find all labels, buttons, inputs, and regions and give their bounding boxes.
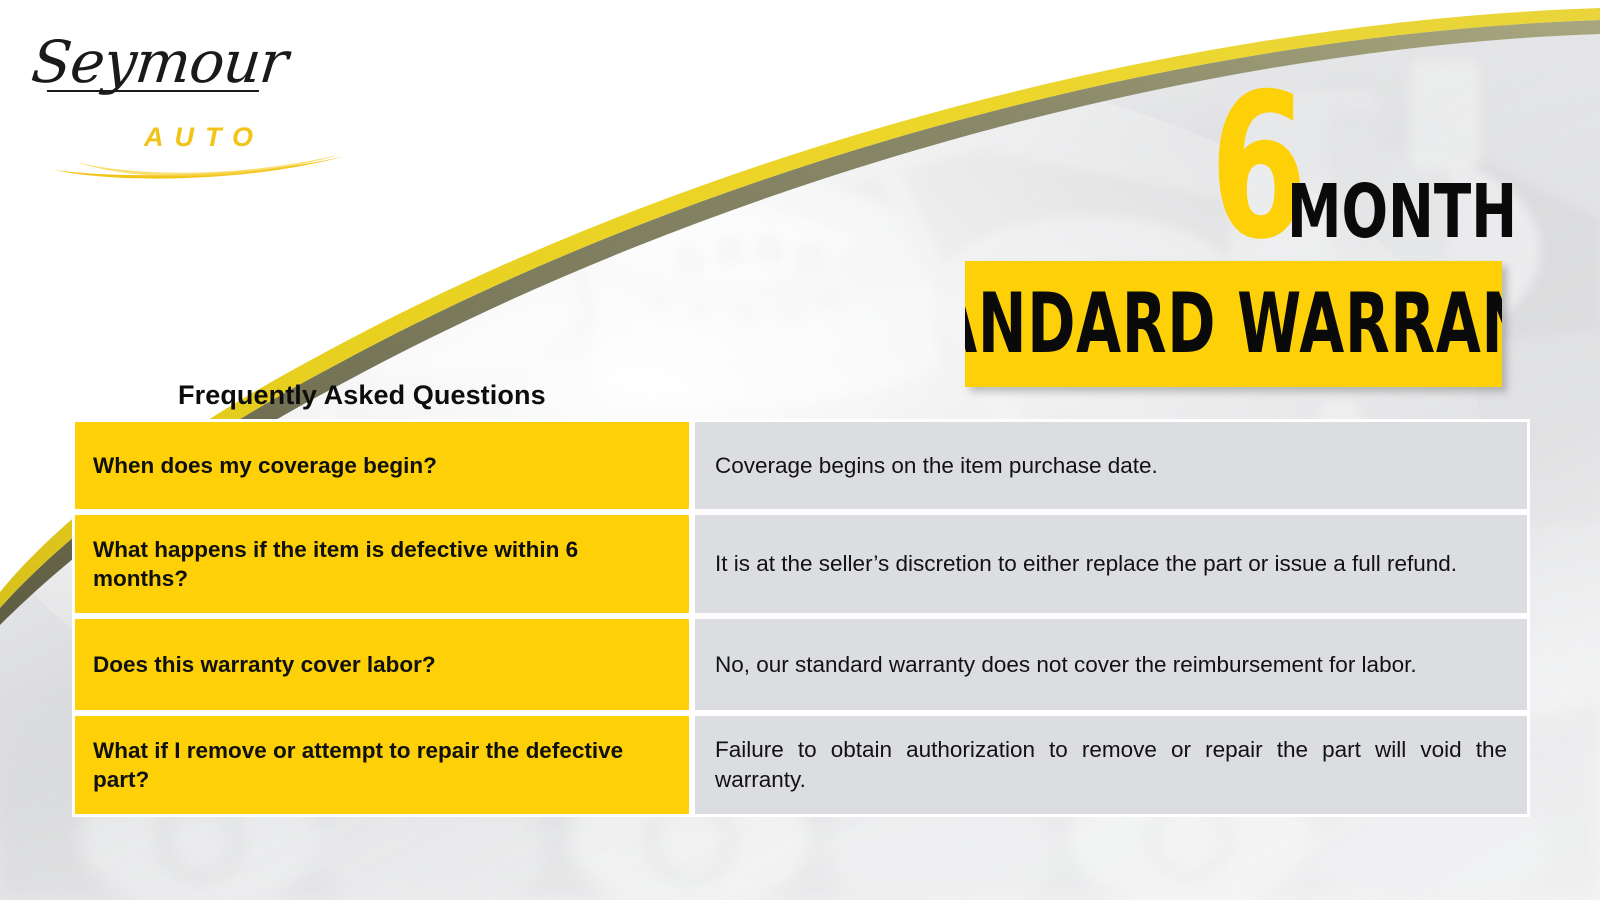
duration-unit: MONTH bbox=[1287, 183, 1517, 242]
faq-question-text: What if I remove or attempt to repair th… bbox=[93, 736, 671, 795]
faq-table: When does my coverage begin? Coverage be… bbox=[72, 419, 1530, 817]
table-row: What if I remove or attempt to repair th… bbox=[72, 713, 1530, 817]
faq-heading: Frequently Asked Questions bbox=[178, 380, 546, 411]
standard-warranty-title: STANDARD WARRANTY bbox=[965, 287, 1502, 362]
faq-answer-text: It is at the seller’s discretion to eith… bbox=[715, 549, 1507, 579]
faq-question-cell: What happens if the item is defective wi… bbox=[72, 512, 692, 616]
standard-warranty-banner: STANDARD WARRANTY bbox=[965, 261, 1502, 387]
table-row: What happens if the item is defective wi… bbox=[72, 512, 1530, 616]
table-row: When does my coverage begin? Coverage be… bbox=[72, 419, 1530, 512]
faq-question-cell: Does this warranty cover labor? bbox=[72, 616, 692, 713]
faq-answer-cell: Failure to obtain authorization to remov… bbox=[692, 713, 1530, 817]
faq-answer-cell: It is at the seller’s discretion to eith… bbox=[692, 512, 1530, 616]
faq-question-text: When does my coverage begin? bbox=[93, 451, 437, 480]
table-row: Does this warranty cover labor? No, our … bbox=[72, 616, 1530, 713]
faq-answer-text: Coverage begins on the item purchase dat… bbox=[715, 451, 1507, 481]
warranty-slide: Seymour AUTO 6 MONTH STANDARD WARRANTY F… bbox=[0, 0, 1600, 900]
faq-answer-cell: No, our standard warranty does not cover… bbox=[692, 616, 1530, 713]
faq-question-cell: What if I remove or attempt to repair th… bbox=[72, 713, 692, 817]
faq-answer-text: No, our standard warranty does not cover… bbox=[715, 650, 1507, 680]
brand-logo: Seymour AUTO bbox=[28, 22, 328, 172]
faq-question-text: What happens if the item is defective wi… bbox=[93, 535, 671, 594]
faq-question-text: Does this warranty cover labor? bbox=[93, 650, 436, 679]
duration-headline: 6 MONTH bbox=[1210, 78, 1598, 248]
faq-answer-text: Failure to obtain authorization to remov… bbox=[715, 735, 1507, 794]
faq-question-cell: When does my coverage begin? bbox=[72, 419, 692, 512]
faq-answer-cell: Coverage begins on the item purchase dat… bbox=[692, 419, 1530, 512]
logo-swoosh-icon bbox=[50, 140, 350, 182]
logo-wordmark: Seymour bbox=[28, 28, 290, 96]
